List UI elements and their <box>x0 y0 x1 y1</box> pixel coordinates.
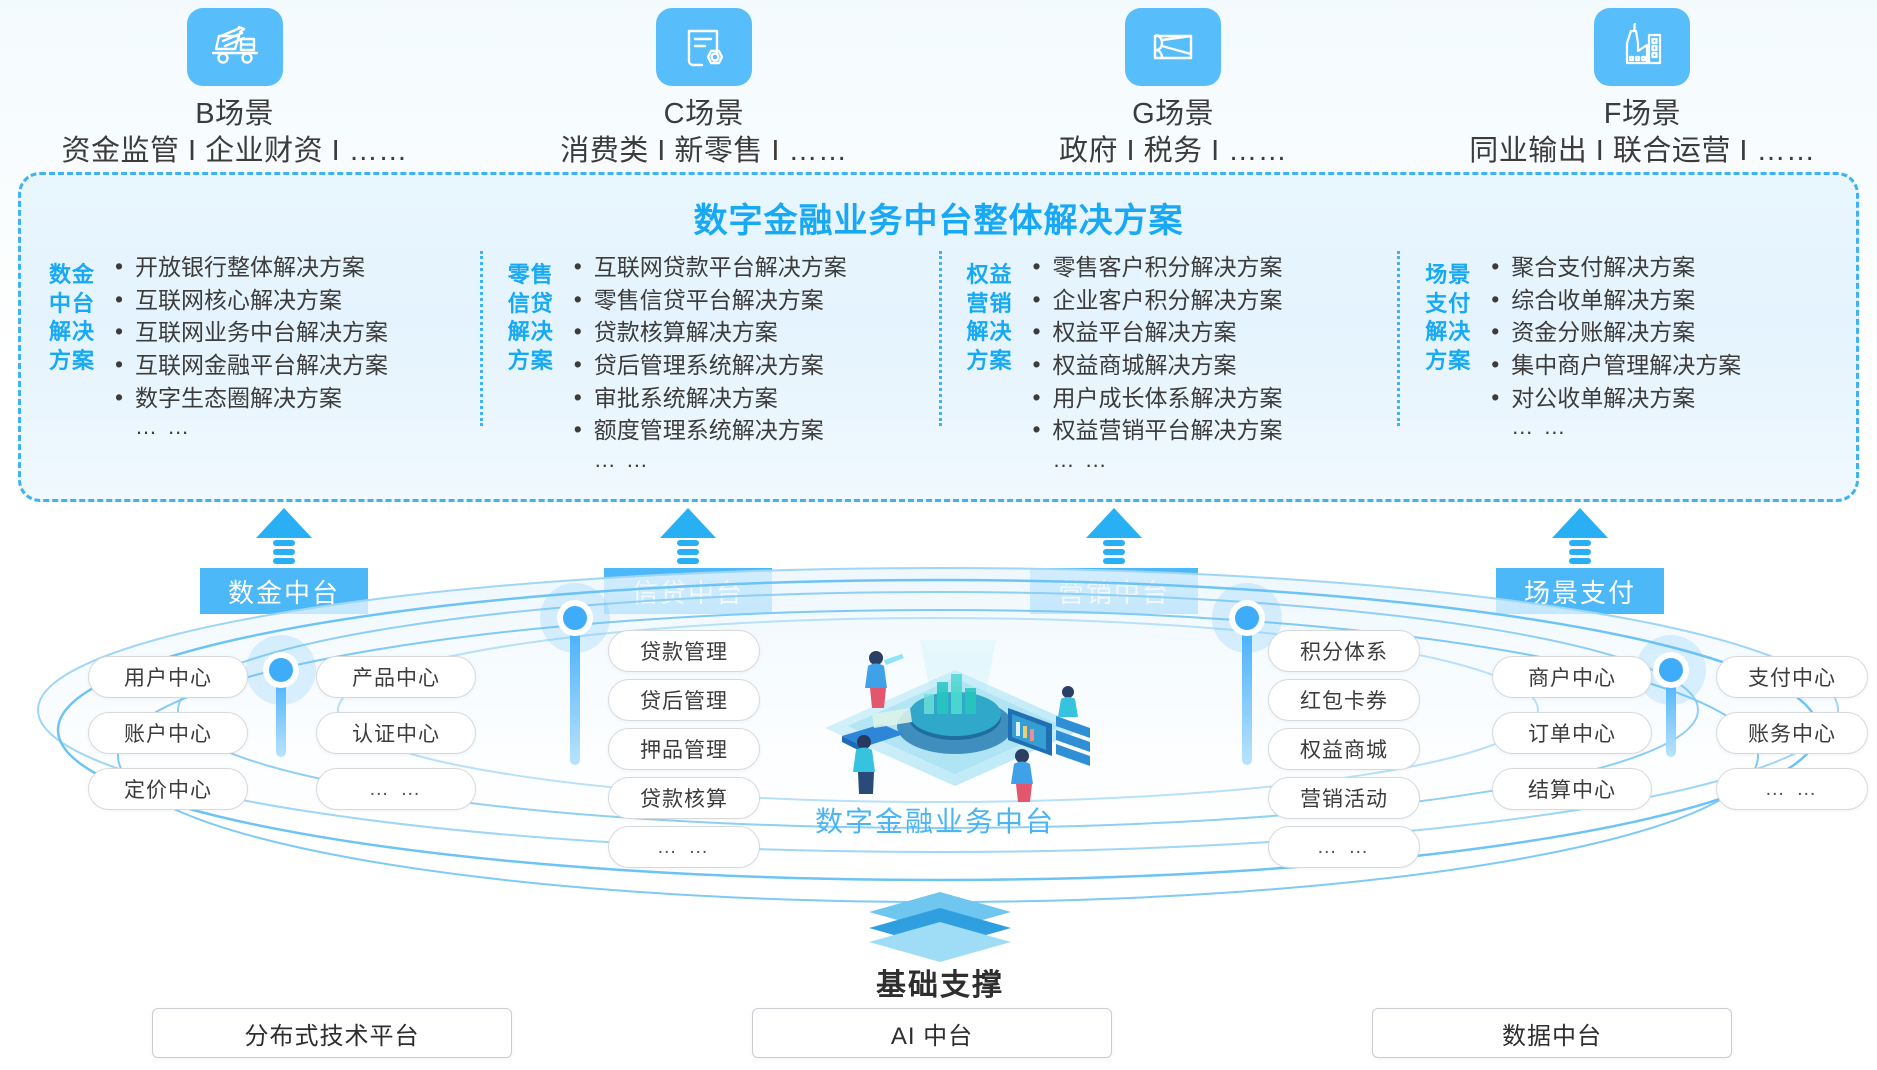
solution-item[interactable]: 权益平台解决方案 <box>1031 316 1283 349</box>
solution-column-changjing-zhifu: 场景 支付 解决 方案 聚合支付解决方案 综合收单解决方案 资金分账解决方案 集… <box>1397 247 1856 487</box>
label-line: 解决 <box>957 318 1023 347</box>
scenario-header-row: B场景 资金监管 I 企业财资 I …… C场景 消费类 I 新零售 I …… <box>0 8 1877 168</box>
column-ellipsis: … … <box>1489 414 1741 440</box>
solution-item[interactable]: 集中商户管理解决方案 <box>1489 349 1741 382</box>
scenario-f[interactable]: F场景 同业输出 I 联合运营 I …… <box>1408 8 1877 168</box>
chip-user-center[interactable]: 用户中心 <box>88 656 248 698</box>
solution-item[interactable]: 对公收单解决方案 <box>1489 382 1741 415</box>
chip-benefits-mall[interactable]: 权益商城 <box>1268 728 1420 770</box>
column-items: 聚合支付解决方案 综合收单解决方案 资金分账解决方案 集中商户管理解决方案 对公… <box>1489 247 1741 441</box>
column-ellipsis: … … <box>1031 447 1283 473</box>
chip-collateral-management[interactable]: 押品管理 <box>608 728 760 770</box>
chip-more-yingxiao[interactable]: … … <box>1268 826 1420 868</box>
solution-item[interactable]: 互联网核心解决方案 <box>113 284 388 317</box>
scenario-subtitle: 政府 I 税务 I …… <box>1059 135 1287 168</box>
column-label: 数金 中台 解决 方案 <box>39 247 105 375</box>
chip-more-xindai[interactable]: … … <box>608 826 760 868</box>
center-platform-caption: 数字金融业务中台 <box>770 800 1100 840</box>
label-line: 营销 <box>957 290 1023 319</box>
chip-coupon-voucher[interactable]: 红包卡券 <box>1268 679 1420 721</box>
label-line: 支付 <box>1415 290 1481 319</box>
chip-pricing-center[interactable]: 定价中心 <box>88 768 248 810</box>
factory-icon <box>1594 8 1690 86</box>
foundation-box-distributed[interactable]: 分布式技术平台 <box>152 1008 512 1058</box>
foundation-box-data[interactable]: 数据中台 <box>1372 1008 1732 1058</box>
layered-stack-icon <box>865 890 1015 962</box>
solution-item[interactable]: 权益商城解决方案 <box>1031 349 1283 382</box>
column-items: 零售客户积分解决方案 企业客户积分解决方案 权益平台解决方案 权益商城解决方案 … <box>1031 247 1283 473</box>
chip-auth-center[interactable]: 认证中心 <box>316 712 476 754</box>
label-line: 方案 <box>1415 347 1481 376</box>
label-line: 零售 <box>498 261 564 290</box>
chip-loan-management[interactable]: 贷款管理 <box>608 630 760 672</box>
solution-item[interactable]: 权益营销平台解决方案 <box>1031 414 1283 447</box>
solution-item[interactable]: 贷款核算解决方案 <box>572 316 847 349</box>
solution-item[interactable]: 零售客户积分解决方案 <box>1031 251 1283 284</box>
chip-post-loan-management[interactable]: 贷后管理 <box>608 679 760 721</box>
chip-marketing-campaign[interactable]: 营销活动 <box>1268 777 1420 819</box>
label-line: 方案 <box>39 347 105 376</box>
foundation-row: 分布式技术平台 AI 中台 数据中台 <box>0 1008 1877 1064</box>
column-items: 互联网贷款平台解决方案 零售信贷平台解决方案 贷款核算解决方案 贷后管理系统解决… <box>572 247 847 473</box>
chip-order-center[interactable]: 订单中心 <box>1492 712 1652 754</box>
column-label: 零售 信贷 解决 方案 <box>498 247 564 375</box>
label-line: 方案 <box>957 347 1023 376</box>
solution-item[interactable]: 企业客户积分解决方案 <box>1031 284 1283 317</box>
label-line: 场景 <box>1415 261 1481 290</box>
column-ellipsis: … … <box>572 447 847 473</box>
solution-item[interactable]: 聚合支付解决方案 <box>1489 251 1741 284</box>
label-line: 权益 <box>957 261 1023 290</box>
solution-item[interactable]: 互联网金融平台解决方案 <box>113 349 388 382</box>
label-line: 数金 <box>39 261 105 290</box>
diagram-canvas: B场景 资金监管 I 企业财资 I …… C场景 消费类 I 新零售 I …… <box>0 0 1877 1070</box>
solution-column-lingshou-xindai: 零售 信贷 解决 方案 互联网贷款平台解决方案 零售信贷平台解决方案 贷款核算解… <box>480 247 939 487</box>
scenario-subtitle: 资金监管 I 企业财资 I …… <box>61 135 407 168</box>
solution-column-quanyi-yingxiao: 权益 营销 解决 方案 零售客户积分解决方案 企业客户积分解决方案 权益平台解决… <box>939 247 1398 487</box>
label-line: 解决 <box>498 318 564 347</box>
solution-item[interactable]: 综合收单解决方案 <box>1489 284 1741 317</box>
solution-item[interactable]: 用户成长体系解决方案 <box>1031 382 1283 415</box>
solution-column-shujin: 数金 中台 解决 方案 开放银行整体解决方案 互联网核心解决方案 互联网业务中台… <box>21 247 480 487</box>
scenario-subtitle: 消费类 I 新零售 I …… <box>560 135 847 168</box>
connector-pin-shujin <box>246 635 316 705</box>
connector-pin-xindai <box>540 583 610 653</box>
solution-item[interactable]: 零售信贷平台解决方案 <box>572 284 847 317</box>
label-line: 解决 <box>1415 318 1481 347</box>
chip-merchant-center[interactable]: 商户中心 <box>1492 656 1652 698</box>
solution-item[interactable]: 额度管理系统解决方案 <box>572 414 847 447</box>
solution-item[interactable]: 审批系统解决方案 <box>572 382 847 415</box>
label-line: 解决 <box>39 318 105 347</box>
chip-more-zhifu[interactable]: … … <box>1716 768 1868 810</box>
label-line: 中台 <box>39 290 105 319</box>
document-verified-icon <box>656 8 752 86</box>
panel-title: 数字金融业务中台整体解决方案 <box>21 193 1856 242</box>
solution-item[interactable]: 互联网业务中台解决方案 <box>113 316 388 349</box>
chip-product-center[interactable]: 产品中心 <box>316 656 476 698</box>
solution-item[interactable]: 互联网贷款平台解决方案 <box>572 251 847 284</box>
solution-panel: 数字金融业务中台整体解决方案 数金 中台 解决 方案 开放银行整体解决方案 互联… <box>18 172 1859 502</box>
chip-more-shujin[interactable]: … … <box>316 768 476 810</box>
solution-item[interactable]: 资金分账解决方案 <box>1489 316 1741 349</box>
chip-accounting-center[interactable]: 账务中心 <box>1716 712 1868 754</box>
scenario-g[interactable]: G场景 政府 I 税务 I …… <box>939 8 1408 168</box>
column-label: 场景 支付 解决 方案 <box>1415 247 1481 375</box>
foundation-box-ai[interactable]: AI 中台 <box>752 1008 1112 1058</box>
chip-settlement-center[interactable]: 结算中心 <box>1492 768 1652 810</box>
column-items: 开放银行整体解决方案 互联网核心解决方案 互联网业务中台解决方案 互联网金融平台… <box>113 247 388 441</box>
solution-item[interactable]: 开放银行整体解决方案 <box>113 251 388 284</box>
label-line: 信贷 <box>498 290 564 319</box>
flag-banner-icon <box>1125 8 1221 86</box>
solution-item[interactable]: 贷后管理系统解决方案 <box>572 349 847 382</box>
isometric-platform-illustration <box>800 630 1110 810</box>
scenario-c[interactable]: C场景 消费类 I 新零售 I …… <box>469 8 938 168</box>
scenario-title: B场景 <box>195 98 274 131</box>
scenario-title: C场景 <box>664 98 744 131</box>
scenario-b[interactable]: B场景 资金监管 I 企业财资 I …… <box>0 8 469 168</box>
chip-loan-accounting[interactable]: 贷款核算 <box>608 777 760 819</box>
truck-shipping-icon <box>187 8 283 86</box>
column-ellipsis: … … <box>113 414 388 440</box>
chip-account-center[interactable]: 账户中心 <box>88 712 248 754</box>
solution-item[interactable]: 数字生态圈解决方案 <box>113 382 388 415</box>
chip-points-system[interactable]: 积分体系 <box>1268 630 1420 672</box>
chip-payment-center[interactable]: 支付中心 <box>1716 656 1868 698</box>
scenario-title: G场景 <box>1132 98 1214 131</box>
label-line: 方案 <box>498 347 564 376</box>
scenario-title: F场景 <box>1604 98 1681 131</box>
base-support-title: 基础支撑 <box>800 960 1080 1004</box>
scenario-subtitle: 同业输出 I 联合运营 I …… <box>1469 135 1815 168</box>
column-label: 权益 营销 解决 方案 <box>957 247 1023 375</box>
